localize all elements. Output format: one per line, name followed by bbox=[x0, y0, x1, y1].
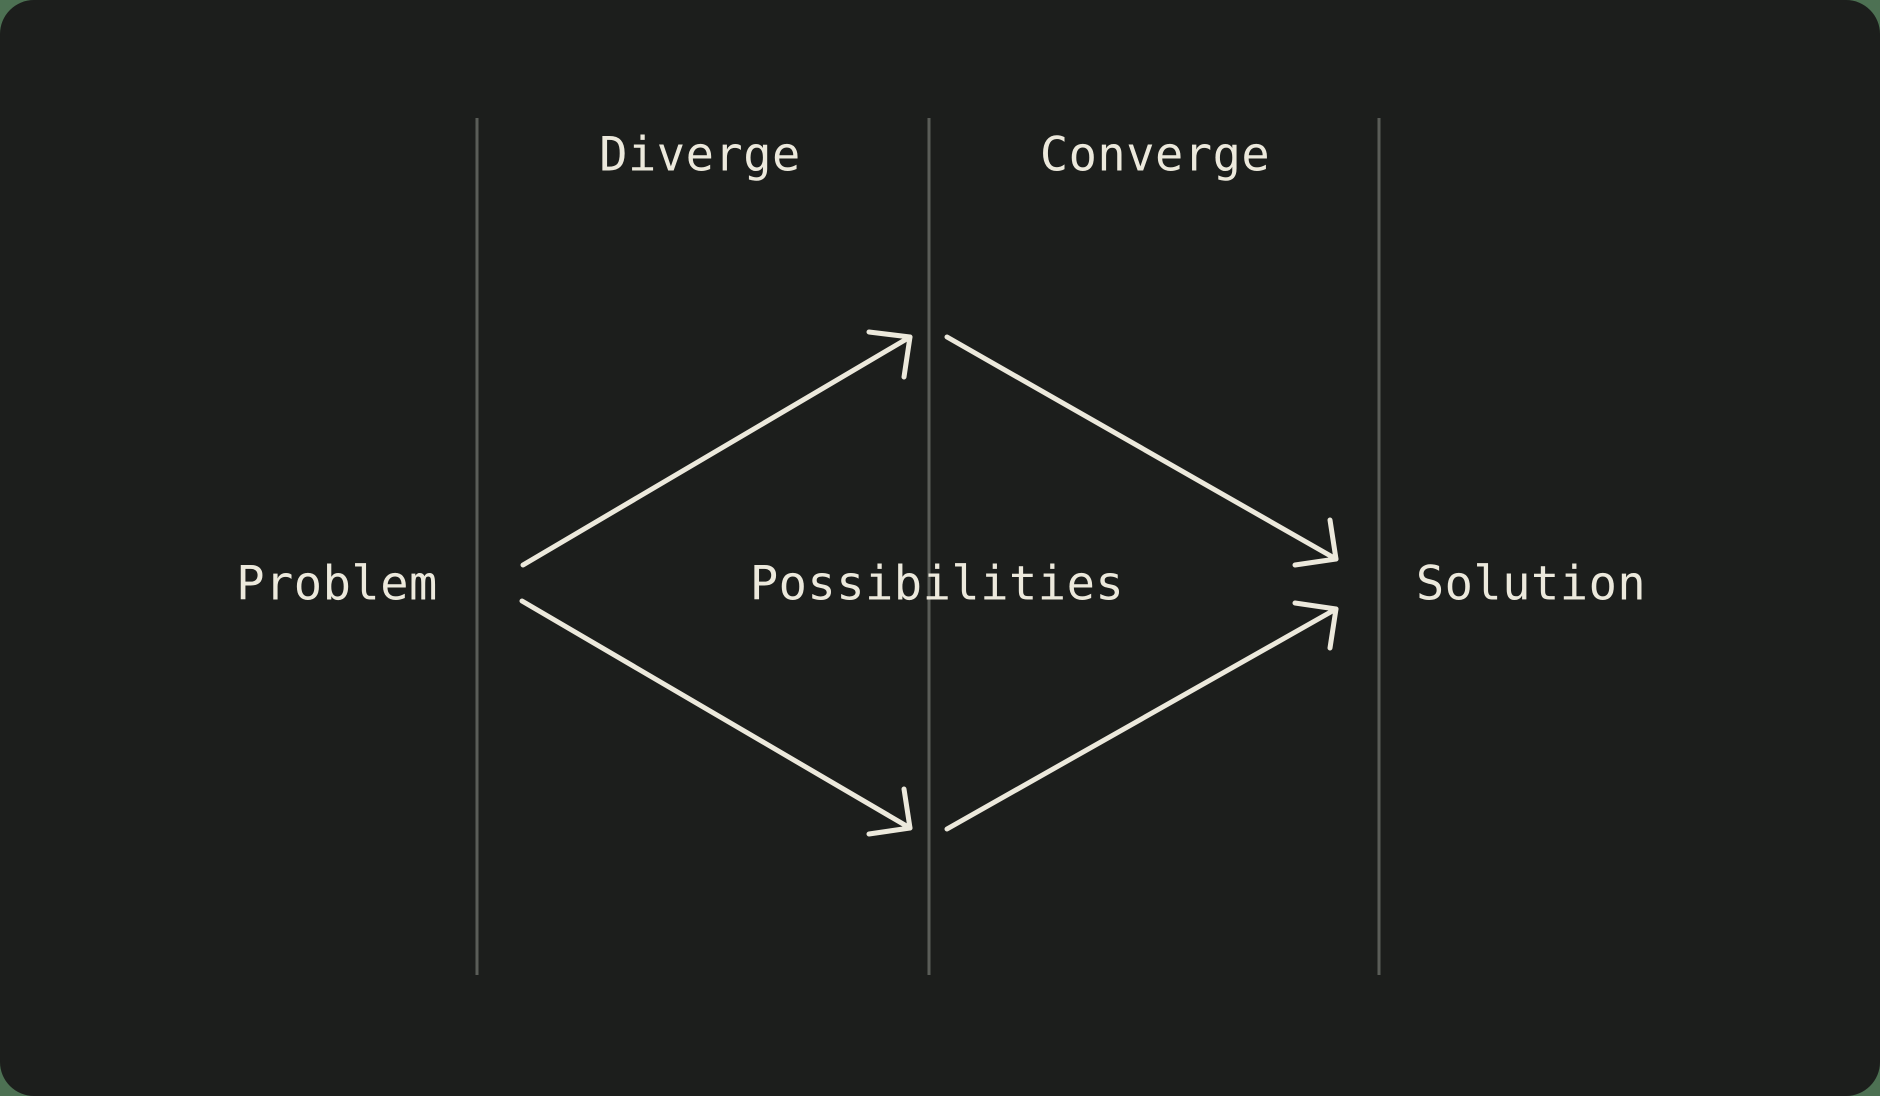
stage-label-diverge: Diverge bbox=[599, 128, 801, 183]
arrow-diverge-down bbox=[522, 601, 910, 834]
node-label-solution: Solution bbox=[1416, 557, 1646, 612]
node-label-possibilities: Possibilities bbox=[750, 557, 1124, 612]
node-label-problem: Problem bbox=[236, 557, 438, 612]
diagram-canvas: Diverge Converge Problem Possibilities S… bbox=[0, 0, 1880, 1096]
diagram-graphics bbox=[0, 0, 1880, 1096]
arrow-converge-up bbox=[947, 603, 1336, 829]
stage-label-converge: Converge bbox=[1040, 128, 1270, 183]
arrow-diverge-up bbox=[523, 332, 910, 565]
arrow-converge-down bbox=[947, 337, 1336, 565]
